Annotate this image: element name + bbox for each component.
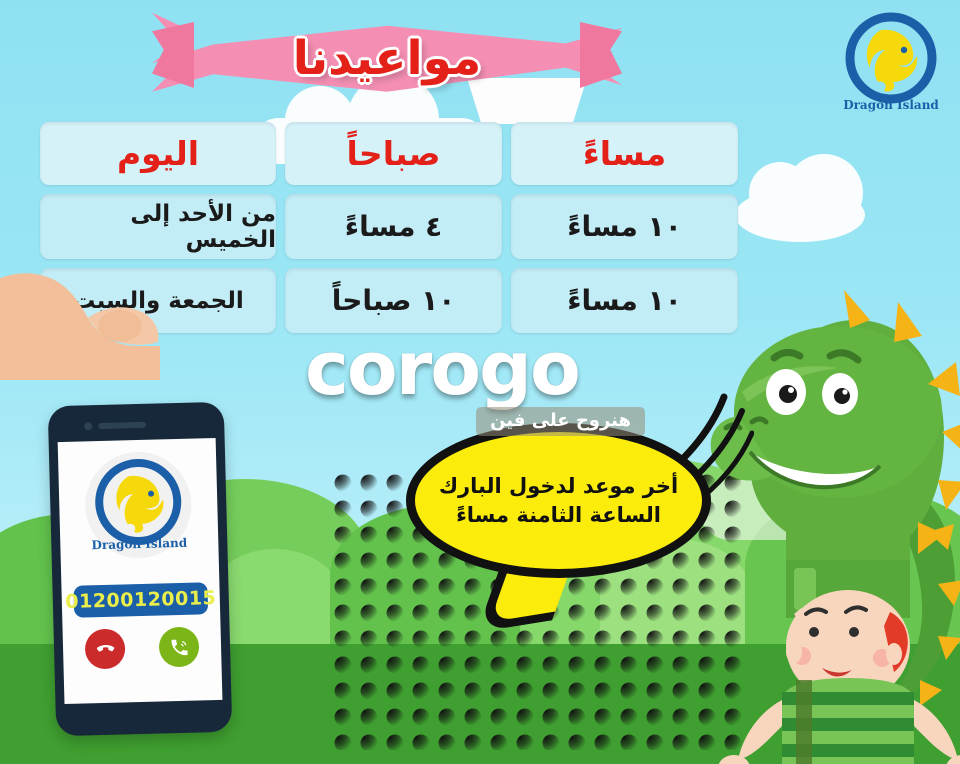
call-buttons-group (85, 626, 200, 669)
hand-illustration (0, 150, 180, 380)
header-morning-label: صباحاً (347, 134, 441, 173)
cell-morning-text: ٤ مساءً (345, 210, 443, 243)
front-camera-icon (84, 422, 92, 430)
phone-accept-icon (168, 636, 190, 658)
brand-logo-header: Dragon Island (836, 8, 946, 118)
logo-wordmark: Dragon Island (843, 98, 939, 112)
speech-bubble-group: أخر موعد لدخول البارك الساعة الثامنة مسا… (400, 415, 720, 605)
phone-number-badge: 01200120015 (73, 582, 208, 617)
cell-evening-text: ١٠ مساءً (567, 284, 682, 317)
logo-wordmark: Dragon Island (91, 536, 188, 553)
phone-screen: Dragon Island 01200120015 (58, 438, 223, 704)
smartphone-mockup: Dragon Island 01200120015 (48, 402, 233, 736)
cell-evening-text: ١٠ مساءً (567, 210, 682, 243)
header-cell-morning: صباحاً (285, 122, 502, 185)
decline-call-button[interactable] (85, 628, 126, 669)
page-title: مواعيدنا (152, 6, 622, 116)
brand-logo-phone: Dragon Island (84, 451, 193, 560)
header-cell-evening: مساءً (511, 122, 738, 185)
earpiece-speaker (98, 422, 146, 429)
phone-decline-icon (94, 638, 116, 660)
poster-canvas: مواعيدنا اليوم صباحاً مساءً من الأحد إلى… (0, 0, 960, 764)
dragon-island-logo-icon: Dragon Island (84, 451, 193, 560)
cell-morning: ١٠ صباحاً (285, 268, 502, 333)
title-ribbon: مواعيدنا (152, 6, 622, 116)
cell-morning-text: ١٠ صباحاً (332, 284, 456, 317)
header-evening-label: مساءً (583, 134, 666, 173)
notice-bubble: أخر موعد لدخول البارك الساعة الثامنة مسا… (406, 423, 711, 578)
cell-morning: ٤ مساءً (285, 194, 502, 259)
notice-line-1: أخر موعد لدخول البارك (439, 472, 678, 500)
notice-line-2: الساعة الثامنة مساءً (456, 501, 661, 529)
accept-call-button[interactable] (159, 626, 200, 667)
